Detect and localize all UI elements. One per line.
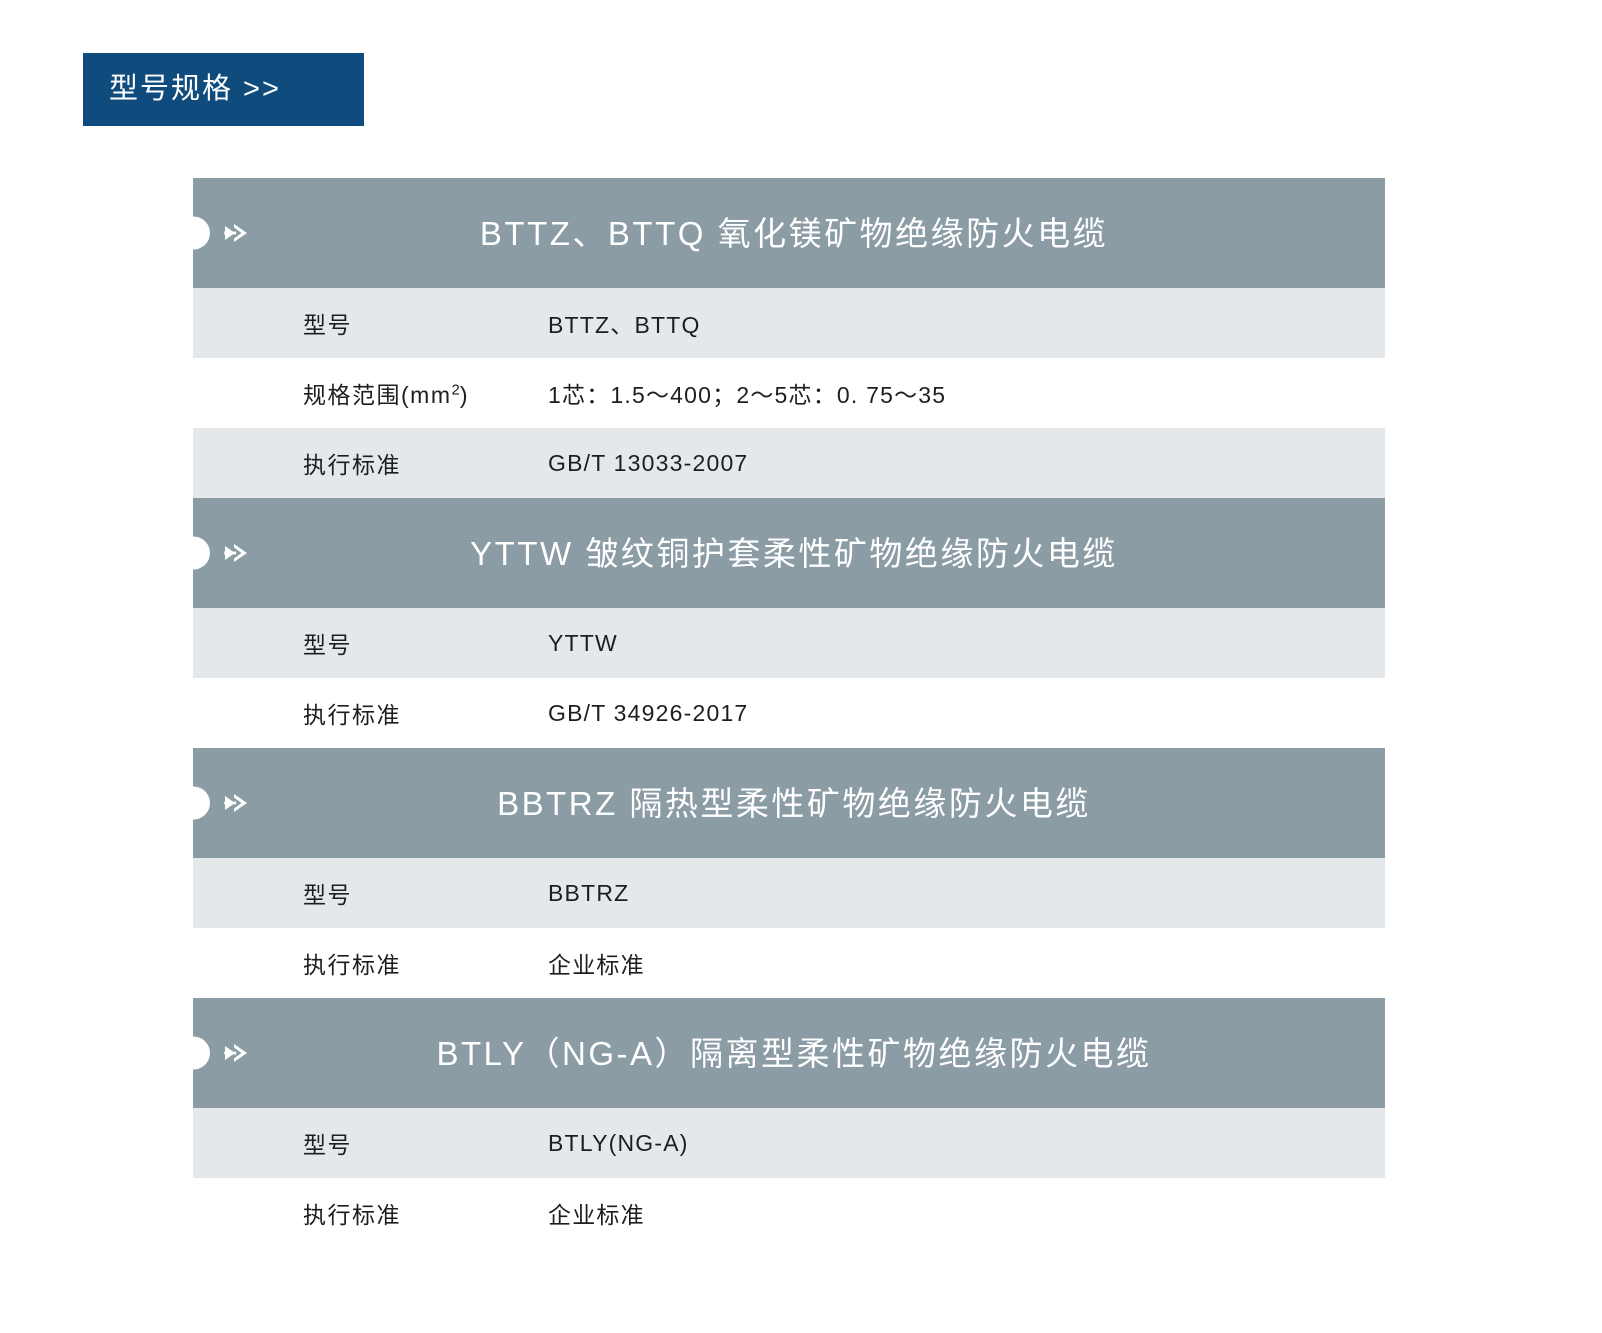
spec-row-value: BTTZ、BTTQ	[548, 306, 1385, 340]
spec-row: 型号YTTW	[193, 608, 1385, 678]
spec-section: YTTW 皱纹铜护套柔性矿物绝缘防火电缆型号YTTW执行标准GB/T 34926…	[193, 498, 1385, 748]
spec-row: 规格范围(mm2)1芯：1.5～400；2～5芯：0. 75～35	[193, 358, 1385, 428]
spec-row-value: BTLY(NG-A)	[548, 1130, 1385, 1157]
circle-notch-icon	[177, 1037, 210, 1070]
spec-row: 执行标准企业标准	[193, 928, 1385, 998]
spec-row-value: GB/T 34926-2017	[548, 700, 1385, 727]
spec-row-label: 型号	[193, 626, 548, 660]
spec-row-label: 规格范围(mm2)	[193, 376, 548, 410]
circle-notch-icon	[177, 217, 210, 250]
model-spec-badge[interactable]: 型号规格 >>	[83, 53, 364, 126]
double-arrow-right-icon	[221, 216, 255, 250]
section-header[interactable]: BTTZ、BTTQ 氧化镁矿物绝缘防火电缆	[193, 178, 1385, 288]
spec-row: 执行标准企业标准	[193, 1178, 1385, 1248]
spec-row-value: 1芯：1.5～400；2～5芯：0. 75～35	[548, 376, 1385, 410]
spec-section: BTLY（NG-A）隔离型柔性矿物绝缘防火电缆型号BTLY(NG-A)执行标准企…	[193, 998, 1385, 1248]
model-spec-badge-label: 型号规格 >>	[109, 75, 281, 104]
spec-row: 型号BBTRZ	[193, 858, 1385, 928]
spec-row-label: 执行标准	[193, 446, 548, 480]
spec-row-label: 型号	[193, 306, 548, 340]
spec-row-value: 企业标准	[548, 1196, 1385, 1230]
spec-row-label: 型号	[193, 1126, 548, 1160]
spec-row: 执行标准GB/T 34926-2017	[193, 678, 1385, 748]
spec-table: BTTZ、BTTQ 氧化镁矿物绝缘防火电缆型号BTTZ、BTTQ规格范围(mm2…	[193, 178, 1385, 1248]
spec-row-label: 执行标准	[193, 946, 548, 980]
section-title: BTTZ、BTTQ 氧化镁矿物绝缘防火电缆	[470, 217, 1108, 250]
spec-row-label-tail: )	[460, 382, 469, 408]
section-title: YTTW 皱纹铜护套柔性矿物绝缘防火电缆	[460, 537, 1118, 570]
spec-row: 执行标准GB/T 13033-2007	[193, 428, 1385, 498]
spec-row-label: 执行标准	[193, 696, 548, 730]
spec-row-value: GB/T 13033-2007	[548, 450, 1385, 477]
circle-notch-icon	[177, 537, 210, 570]
section-header[interactable]: BBTRZ 隔热型柔性矿物绝缘防火电缆	[193, 748, 1385, 858]
spec-row-label-superscript: 2	[451, 381, 459, 398]
circle-notch-icon	[177, 787, 210, 820]
spec-row-label: 执行标准	[193, 1196, 548, 1230]
section-title: BBTRZ 隔热型柔性矿物绝缘防火电缆	[487, 787, 1091, 820]
spec-row-value: BBTRZ	[548, 880, 1385, 907]
spec-row-label-text: 规格范围(mm	[303, 382, 451, 408]
section-header[interactable]: YTTW 皱纹铜护套柔性矿物绝缘防火电缆	[193, 498, 1385, 608]
spec-section: BBTRZ 隔热型柔性矿物绝缘防火电缆型号BBTRZ执行标准企业标准	[193, 748, 1385, 998]
double-arrow-right-icon	[221, 1036, 255, 1070]
section-header[interactable]: BTLY（NG-A）隔离型柔性矿物绝缘防火电缆	[193, 998, 1385, 1108]
spec-row: 型号BTTZ、BTTQ	[193, 288, 1385, 358]
double-arrow-right-icon	[221, 536, 255, 570]
spec-section: BTTZ、BTTQ 氧化镁矿物绝缘防火电缆型号BTTZ、BTTQ规格范围(mm2…	[193, 178, 1385, 498]
spec-row-value: YTTW	[548, 630, 1385, 657]
spec-row-label: 型号	[193, 876, 548, 910]
section-title: BTLY（NG-A）隔离型柔性矿物绝缘防火电缆	[426, 1037, 1151, 1070]
double-arrow-right-icon	[221, 786, 255, 820]
spec-row: 型号BTLY(NG-A)	[193, 1108, 1385, 1178]
spec-row-value: 企业标准	[548, 946, 1385, 980]
